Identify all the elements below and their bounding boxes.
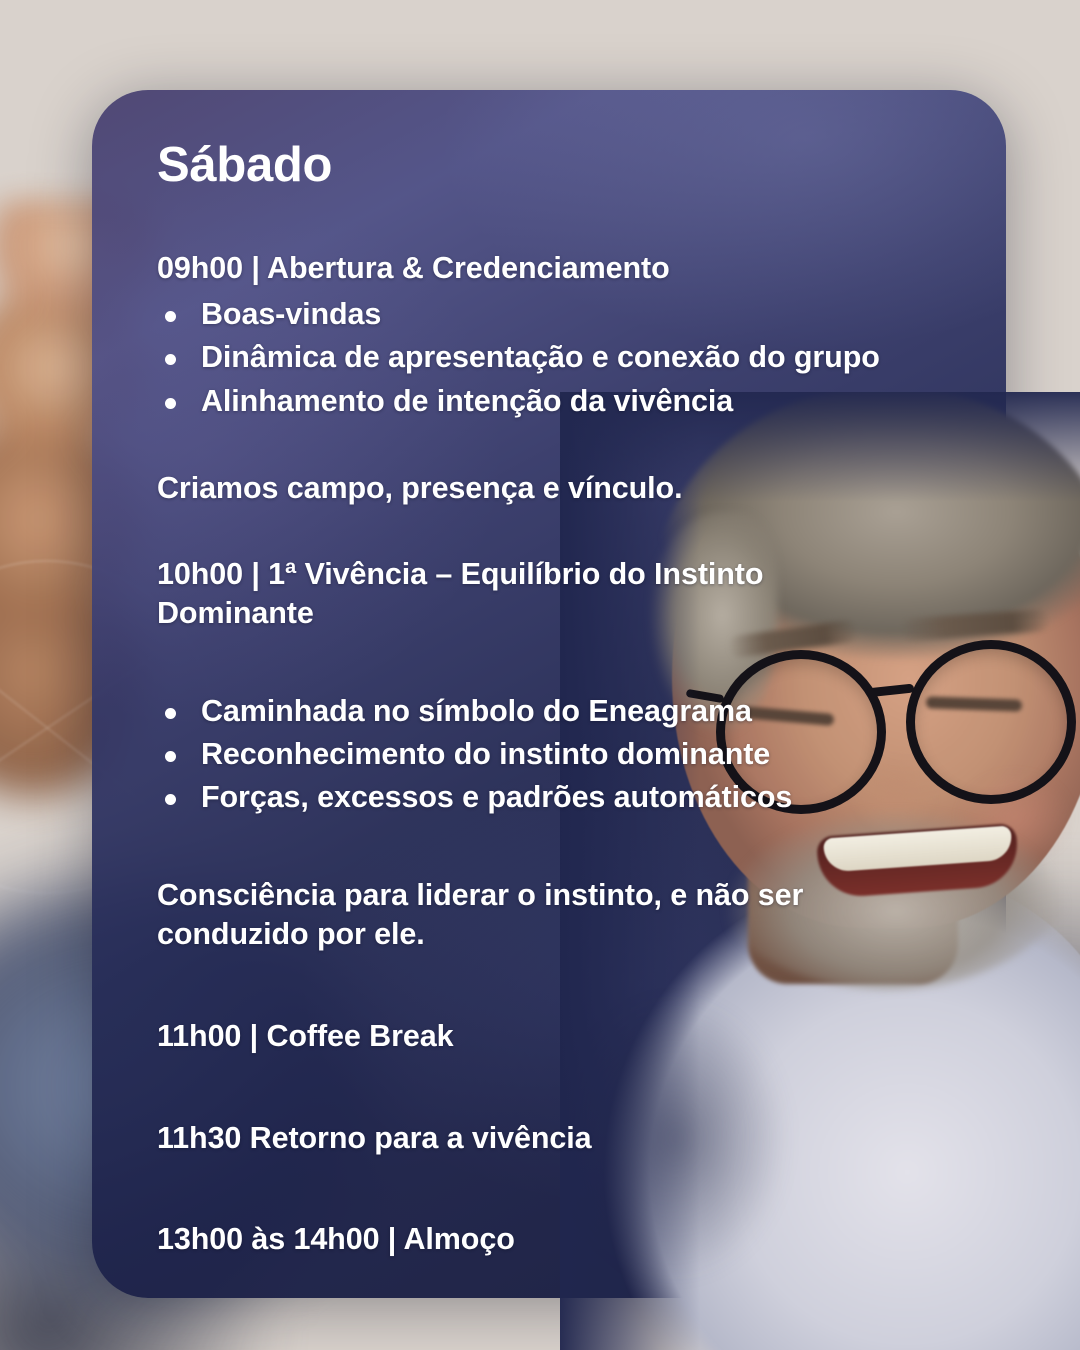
list-item: Reconhecimento do instinto dominante xyxy=(157,733,947,776)
list-item: Caminhada no símbolo do Eneagrama xyxy=(157,690,947,733)
schedule-heading: 11h30 Retorno para a vivência xyxy=(157,1119,947,1159)
note-text-line2: conduzido por ele. xyxy=(157,915,947,955)
schedule-heading: 09h00 | Abertura & Credenciamento xyxy=(157,249,947,289)
schedule-bullet-list: Caminhada no símbolo do Eneagrama Reconh… xyxy=(157,690,947,820)
schedule-item-return: 11h30 Retorno para a vivência xyxy=(157,1119,947,1159)
schedule-bullets-first-experience: Caminhada no símbolo do Eneagrama Reconh… xyxy=(157,690,947,820)
schedule-bullet-list: Boas-vindas Dinâmica de apresentação e c… xyxy=(157,293,947,423)
schedule-item-coffee-break: 11h00 | Coffee Break xyxy=(157,1017,947,1057)
schedule-heading: 13h00 às 14h00 | Almoço xyxy=(157,1220,947,1260)
schedule-heading: 11h00 | Coffee Break xyxy=(157,1017,947,1057)
schedule-note-field: Criamos campo, presença e vínculo. xyxy=(157,469,947,509)
page-title: Sábado xyxy=(157,140,947,191)
note-text-line1: Consciência para liderar o instinto, e n… xyxy=(157,876,947,916)
schedule-content: Sábado 09h00 | Abertura & Credenciamento… xyxy=(157,140,947,1290)
note-text: Criamos campo, presença e vínculo. xyxy=(157,469,947,509)
list-item: Dinâmica de apresentação e conexão do gr… xyxy=(157,336,947,379)
schedule-heading-line2: Dominante xyxy=(157,594,947,634)
list-item: Alinhamento de intenção da vivência xyxy=(157,380,947,423)
schedule-item-first-experience: 10h00 | 1ª Vivência – Equilíbrio do Inst… xyxy=(157,555,947,634)
poster-canvas: Sábado 09h00 | Abertura & Credenciamento… xyxy=(0,0,1080,1350)
schedule-item-lunch: 13h00 às 14h00 | Almoço xyxy=(157,1220,947,1260)
schedule-note-consciousness: Consciência para liderar o instinto, e n… xyxy=(157,876,947,955)
schedule-item-opening: 09h00 | Abertura & Credenciamento Boas-v… xyxy=(157,249,947,423)
list-item: Boas-vindas xyxy=(157,293,947,336)
schedule-heading-line1: 10h00 | 1ª Vivência – Equilíbrio do Inst… xyxy=(157,555,947,595)
list-item: Forças, excessos e padrões automáticos xyxy=(157,776,947,819)
